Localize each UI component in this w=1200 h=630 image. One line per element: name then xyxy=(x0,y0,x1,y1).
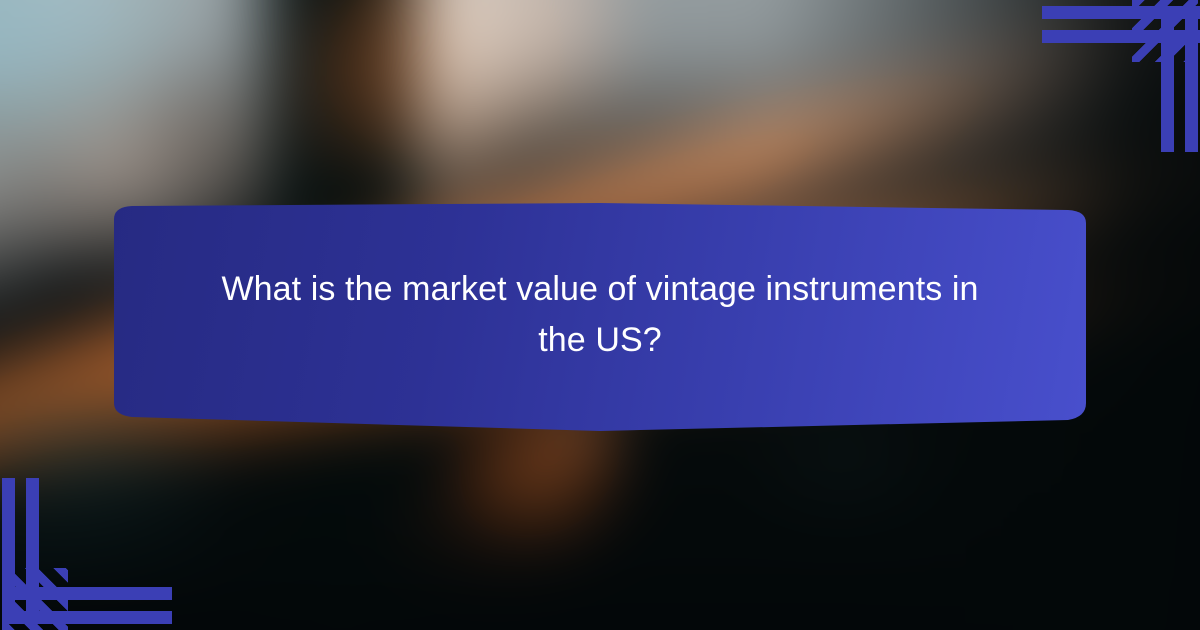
headline-text: What is the market value of vintage inst… xyxy=(220,264,980,370)
bracket-hatch-pattern xyxy=(1132,0,1198,62)
corner-bracket-bottom-left-icon xyxy=(0,478,172,630)
corner-bracket-top-right-icon xyxy=(1028,0,1200,152)
bracket-hatch-pattern xyxy=(2,568,68,630)
headline-banner: What is the market value of vintage inst… xyxy=(98,203,1102,431)
social-card-canvas: What is the market value of vintage inst… xyxy=(0,0,1200,630)
